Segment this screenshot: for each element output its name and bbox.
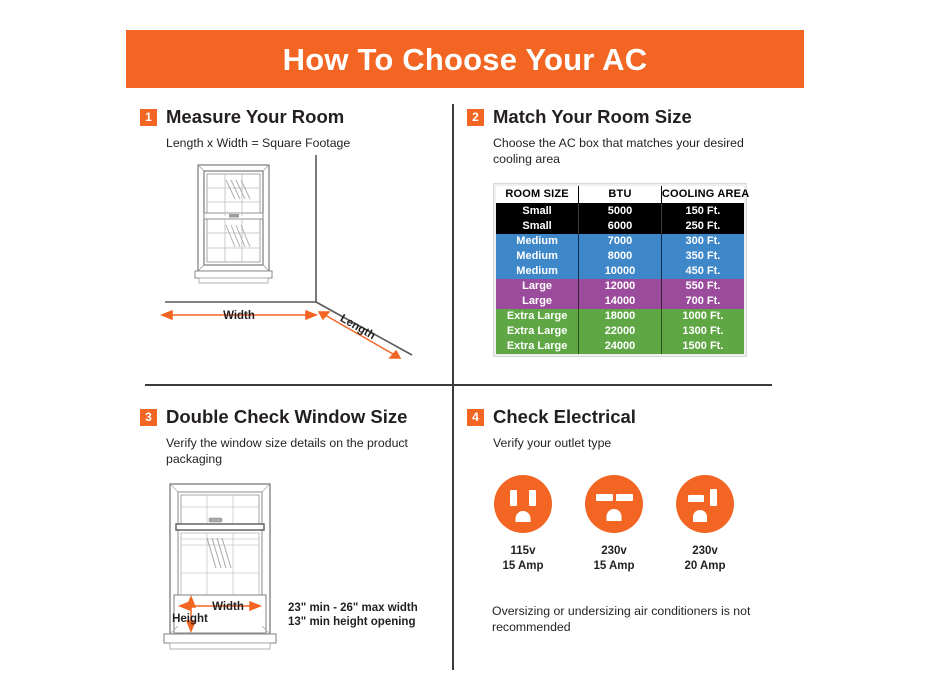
panel-2-subtitle: Choose the AC box that matches your desi… <box>493 135 767 167</box>
cell-area: 300 Ft. <box>661 234 744 249</box>
cell-size: Medium <box>496 249 579 264</box>
table-row: Extra Large180001000 Ft. <box>496 309 744 324</box>
step-number-badge-4: 4 <box>467 409 484 426</box>
panel-4-subtitle: Verify your outlet type <box>493 435 767 451</box>
cell-area: 350 Ft. <box>661 249 744 264</box>
table-row: Extra Large240001500 Ft. <box>496 339 744 354</box>
cell-btu: 14000 <box>579 294 662 309</box>
table-row: Medium10000450 Ft. <box>496 264 744 279</box>
step-number-badge-3: 3 <box>140 409 157 426</box>
window-height-label: Height <box>172 613 208 625</box>
table-row: Extra Large220001300 Ft. <box>496 324 744 339</box>
cell-area: 550 Ft. <box>661 279 744 294</box>
window-note-width: 23" min - 26" max width <box>288 602 418 614</box>
outlet-230v-15amp-icon <box>583 473 645 535</box>
cell-size: Extra Large <box>496 339 579 354</box>
table-row: Small6000250 Ft. <box>496 219 744 234</box>
horizontal-divider <box>145 384 772 386</box>
panel-3-title: Double Check Window Size <box>166 408 407 427</box>
window-size-svg: Width Height 23" min - 26" max width 13"… <box>150 475 440 660</box>
vertical-divider <box>452 104 454 670</box>
panel-1-subtitle: Length x Width = Square Footage <box>166 135 445 151</box>
cell-size: Large <box>496 294 579 309</box>
panel-3-heading: 3 Double Check Window Size <box>140 408 445 427</box>
cell-btu: 22000 <box>579 324 662 339</box>
col-room-size: ROOM SIZE <box>496 186 579 203</box>
cell-area: 1000 Ft. <box>661 309 744 324</box>
table-row: Medium8000350 Ft. <box>496 249 744 264</box>
window-illustration <box>195 165 272 283</box>
room-corner-svg: Width Length <box>140 155 440 370</box>
outlet-115v-15amp-icon <box>492 473 554 535</box>
panel-2-title: Match Your Room Size <box>493 108 692 127</box>
cell-size: Extra Large <box>496 324 579 339</box>
cell-size: Medium <box>496 234 579 249</box>
outlet-type-row: 115v 15 Amp 230v 15 Amp <box>492 473 767 575</box>
panel-match-your-room-size: 2 Match Your Room Size Choose the AC box… <box>467 108 767 376</box>
window-note-height: 13" min height opening <box>288 616 415 628</box>
ac-sizing-table-wrapper: ROOM SIZE BTU COOLING AREA Small5000150 … <box>494 184 746 356</box>
table-row: Small5000150 Ft. <box>496 203 744 218</box>
table-row: Medium7000300 Ft. <box>496 234 744 249</box>
cell-area: 250 Ft. <box>661 219 744 234</box>
cell-btu: 7000 <box>579 234 662 249</box>
step-number-badge-2: 2 <box>467 109 484 126</box>
panel-check-electrical: 4 Check Electrical Verify your outlet ty… <box>467 408 767 668</box>
cell-area: 150 Ft. <box>661 203 744 218</box>
panel-2-heading: 2 Match Your Room Size <box>467 108 767 127</box>
cell-area: 450 Ft. <box>661 264 744 279</box>
length-label: Length <box>338 313 377 343</box>
cell-btu: 6000 <box>579 219 662 234</box>
ac-table-header-row: ROOM SIZE BTU COOLING AREA <box>496 186 744 203</box>
window-width-label: Width <box>212 601 244 613</box>
page-title: How To Choose Your AC <box>283 44 648 75</box>
cell-area: 700 Ft. <box>661 294 744 309</box>
ac-table-head: ROOM SIZE BTU COOLING AREA <box>496 186 744 203</box>
ac-table-body: Small5000150 Ft.Small6000250 Ft.Medium70… <box>496 203 744 353</box>
outlet-option-230v-15amp: 230v 15 Amp <box>583 473 645 575</box>
cell-btu: 8000 <box>579 249 662 264</box>
cell-btu: 18000 <box>579 309 662 324</box>
cell-size: Extra Large <box>496 309 579 324</box>
outlet-label-115v-15amp: 115v 15 Amp <box>502 544 543 575</box>
title-banner: How To Choose Your AC <box>126 30 804 88</box>
table-row: Large12000550 Ft. <box>496 279 744 294</box>
panel-1-title: Measure Your Room <box>166 108 344 127</box>
outlet-label-230v-15amp: 230v 15 Amp <box>593 544 634 575</box>
cell-btu: 10000 <box>579 264 662 279</box>
cell-btu: 5000 <box>579 203 662 218</box>
cell-size: Medium <box>496 264 579 279</box>
col-btu: BTU <box>579 186 662 203</box>
cell-btu: 24000 <box>579 339 662 354</box>
table-row: Large14000700 Ft. <box>496 294 744 309</box>
cell-size: Small <box>496 203 579 218</box>
width-label: Width <box>223 310 255 322</box>
oversizing-footnote: Oversizing or undersizing air conditione… <box>492 603 767 636</box>
col-cooling-area: COOLING AREA <box>661 186 744 203</box>
cell-size: Small <box>496 219 579 234</box>
cell-area: 1300 Ft. <box>661 324 744 339</box>
cell-area: 1500 Ft. <box>661 339 744 354</box>
panel-4-title: Check Electrical <box>493 408 636 427</box>
outlet-label-230v-20amp: 230v 20 Amp <box>684 544 725 575</box>
cell-size: Large <box>496 279 579 294</box>
step-number-badge-1: 1 <box>140 109 157 126</box>
ac-sizing-table: ROOM SIZE BTU COOLING AREA Small5000150 … <box>496 186 744 354</box>
outlet-option-230v-20amp: 230v 20 Amp <box>674 473 736 575</box>
cell-btu: 12000 <box>579 279 662 294</box>
window-size-diagram: Width Height 23" min - 26" max width 13"… <box>150 475 440 665</box>
outlet-option-115v-15amp: 115v 15 Amp <box>492 473 554 575</box>
panel-1-heading: 1 Measure Your Room <box>140 108 445 127</box>
panel-3-subtitle: Verify the window size details on the pr… <box>166 435 445 467</box>
outlet-230v-20amp-icon <box>674 473 736 535</box>
panel-4-heading: 4 Check Electrical <box>467 408 767 427</box>
room-corner-diagram: Width Length <box>140 155 440 375</box>
infographic-page: How To Choose Your AC 1 Measure Your Roo… <box>0 0 930 683</box>
